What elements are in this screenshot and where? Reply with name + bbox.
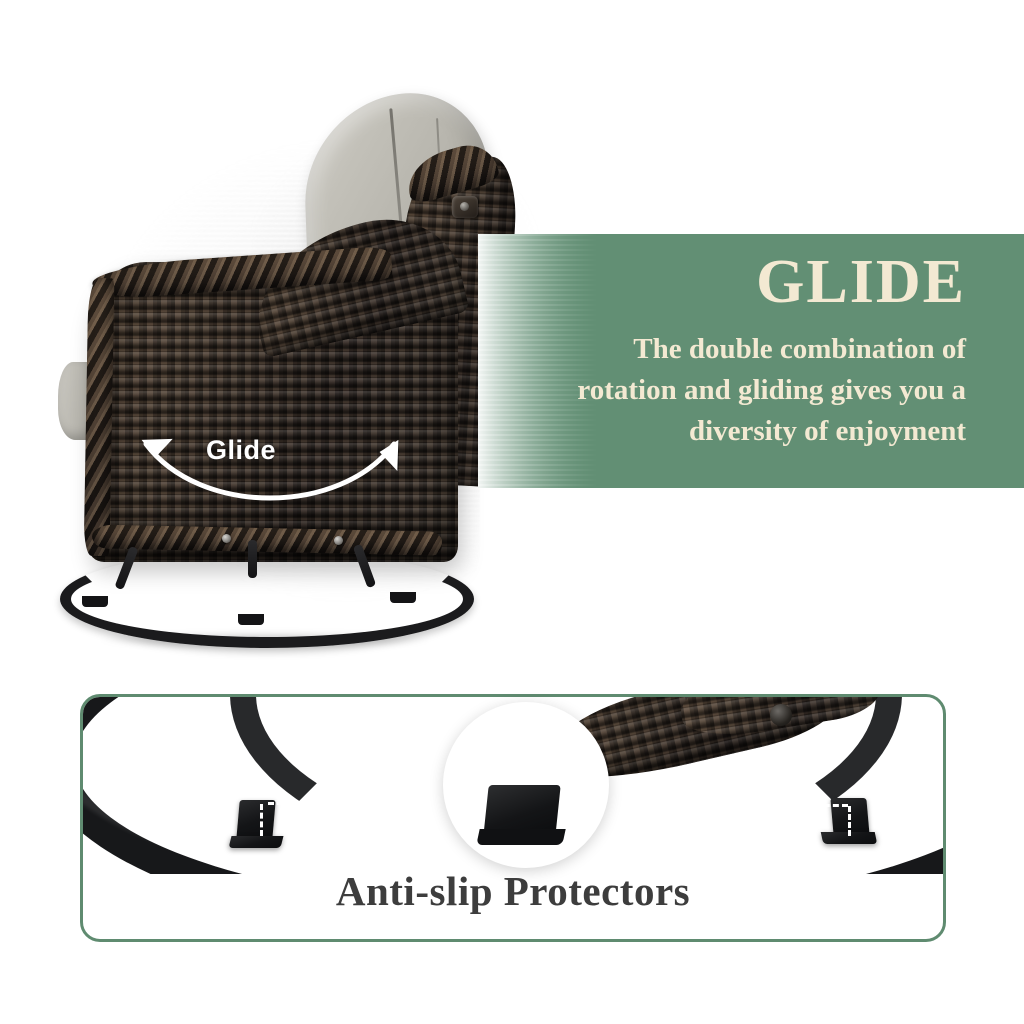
panel-subtitle-line-3: diversity of enjoyment: [502, 411, 966, 452]
base-pivot-knob: [770, 704, 792, 726]
anti-slip-protector-left-base: [229, 836, 284, 848]
base-anti-slip-foot: [82, 596, 108, 607]
product-feature-image: Glide GLIDE The double combination of ro…: [0, 0, 1024, 1024]
panel-subtitle-line-1: The double combination of: [502, 329, 966, 370]
chair-front-braid: [84, 278, 115, 556]
anti-slip-caption: Anti-slip Protectors: [83, 867, 943, 915]
protector-dashed-line-right: [650, 804, 848, 807]
chair-photo-top: Glide GLIDE The double combination of ro…: [0, 0, 1024, 660]
panel-content: GLIDE The double combination of rotation…: [478, 234, 1024, 488]
hinge-bolt-icon: [460, 202, 469, 211]
magnifier-callout-circle: [443, 702, 609, 868]
protector-dashed-marker-left: [260, 804, 263, 836]
panel-subtitle-line-2: rotation and gliding gives you a: [502, 370, 966, 411]
base-anti-slip-foot: [238, 614, 264, 625]
glide-text-panel: GLIDE The double combination of rotation…: [478, 234, 1024, 488]
glider-base: [60, 540, 460, 650]
panel-title: GLIDE: [502, 234, 966, 315]
wicker-swivel-glider-chair: Glide: [0, 0, 520, 640]
base-anti-slip-foot: [390, 592, 416, 603]
glide-arrow-overlay: Glide: [120, 430, 420, 540]
magnified-protector-base: [476, 829, 565, 845]
base-strut: [248, 540, 257, 578]
anti-slip-protector-left: [236, 800, 275, 840]
glide-arrow-label: Glide: [206, 435, 276, 466]
protector-dashed-marker-right: [848, 806, 851, 836]
